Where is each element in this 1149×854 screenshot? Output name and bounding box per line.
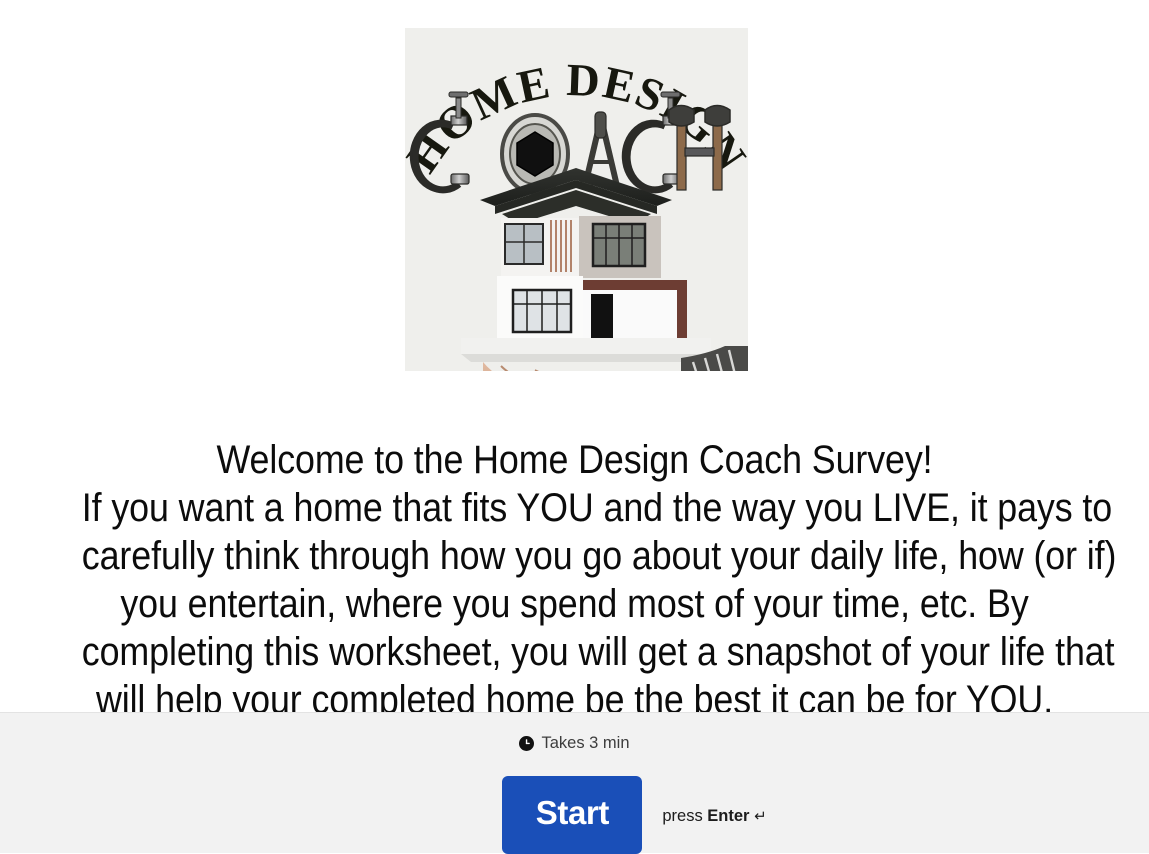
duration-label: Takes 3 min: [541, 735, 629, 751]
welcome-line: you entertain, where you spend most of y…: [82, 580, 1067, 628]
welcome-line: If you want a home that fits YOU and the…: [82, 484, 1067, 532]
survey-content-area: HOME DESIGN: [0, 0, 1149, 712]
hint-prefix: press: [662, 807, 702, 825]
survey-footer-bar: Takes 3 min Start press Enter ↵: [0, 712, 1149, 853]
home-design-coach-logo: HOME DESIGN: [405, 28, 748, 371]
welcome-line: Welcome to the Home Design Coach Survey!: [82, 436, 1067, 484]
clock-icon: [519, 736, 534, 751]
hint-key: Enter: [707, 807, 749, 825]
start-action-row: Start press Enter ↵: [0, 776, 1149, 854]
duration-indicator: Takes 3 min: [0, 735, 1149, 751]
welcome-line: completing this worksheet, you will get …: [82, 628, 1067, 676]
welcome-line: carefully think through how you go about…: [82, 532, 1067, 580]
welcome-message: Welcome to the Home Design Coach Survey!…: [82, 436, 1067, 712]
return-arrow-icon: ↵: [754, 808, 767, 825]
welcome-line: will help your completed home be the bes…: [82, 676, 1067, 712]
start-button[interactable]: Start: [502, 776, 642, 854]
press-enter-hint: press Enter ↵: [662, 807, 766, 826]
